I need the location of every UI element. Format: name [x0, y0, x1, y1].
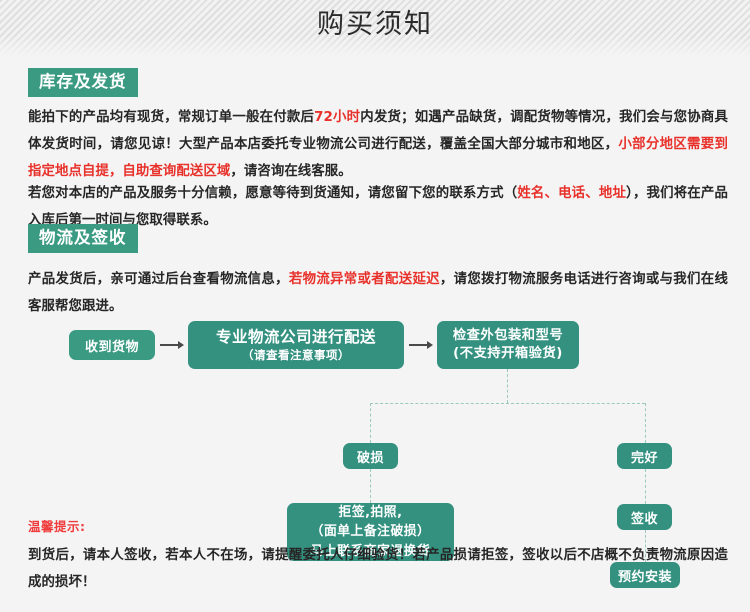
flow-connector-to-intact [645, 403, 646, 443]
arrow-shaft [160, 344, 178, 346]
flow-connector-branch-bus [370, 403, 645, 404]
paragraph1-highlight-72hours: 72小时 [314, 110, 360, 125]
section-inventory-shipping-badge-wrap: 库存及发货 [28, 68, 138, 97]
flow-node-reject-line1: 拒签,拍照, [339, 503, 403, 522]
flow-node-damaged: 破损 [343, 443, 398, 469]
flow-connector-damaged-to-reject [370, 469, 371, 503]
flow-connector-check-down [507, 369, 508, 403]
logistics-paragraph-part1: 产品发货后，亲可通过后台查看物流信息， [28, 272, 289, 287]
arrow-head-icon [427, 341, 433, 349]
flow-node-received-goods: 收到货物 [69, 330, 155, 360]
flow-arrow-received-to-logistics [160, 340, 184, 350]
warm-tips-label: 温馨提示: [28, 516, 86, 535]
paragraph2-part1: 若您对本店的产品及服务十分信赖，愿意等待到货通知，请您留下您的联系方式（ [28, 186, 517, 201]
page-header: 购买须知 [0, 0, 750, 58]
flow-node-sign-receipt-line1: 签收 [631, 508, 658, 527]
section-inventory-shipping-badge: 库存及发货 [28, 68, 138, 97]
flow-connector-intact-to-sign [645, 469, 646, 504]
flow-node-intact-line1: 完好 [631, 447, 658, 466]
paragraph1-part3: ，请咨询在线客服。 [230, 164, 351, 179]
flow-node-damaged-line1: 破损 [357, 447, 384, 466]
flow-node-professional-logistics: 专业物流公司进行配送 （请查看注意事项） [188, 321, 404, 369]
section-logistics-paragraph-1: 产品发货后，亲可通过后台查看物流信息，若物流异常或者配送延迟，请您拨打物流服务电… [28, 266, 728, 320]
flow-arrow-logistics-to-check [409, 340, 433, 350]
section-logistics-signing-badge: 物流及签收 [28, 224, 138, 253]
flow-connector-to-damaged [370, 403, 371, 443]
arrow-head-icon [178, 341, 184, 349]
flow-node-professional-logistics-line2: （请查看注意事项） [242, 348, 350, 362]
logistics-flowchart: 收到货物 专业物流公司进行配送 （请查看注意事项） 检查外包装和型号 (不支持开… [0, 315, 750, 515]
flow-node-professional-logistics-line1: 专业物流公司进行配送 [216, 328, 376, 347]
flow-node-check-package-line1: 检查外包装和型号 [453, 327, 563, 345]
paragraph1-part1: 能拍下的产品均有现货，常规订单一般在付款后 [28, 110, 314, 125]
flow-node-intact: 完好 [617, 443, 672, 469]
warm-tips-body: 到货后，请本人签收，若本人不在场，请提醒委托人仔细验货！若产品损请拒签，签收以后… [28, 542, 728, 596]
flow-node-check-package-line2: (不支持开箱验货) [453, 345, 563, 363]
section-logistics-signing-badge-wrap: 物流及签收 [28, 224, 138, 253]
logistics-paragraph-highlight-delay: 若物流异常或者配送延迟 [289, 272, 440, 287]
section-inventory-paragraph-1: 能拍下的产品均有现货，常规订单一般在付款后72小时内发货；如遇产品缺货，调配货物… [28, 104, 728, 185]
flow-node-reject-line2: （面单上备注破损） [311, 522, 431, 541]
paragraph2-highlight-contact: 姓名、电话、地址 [517, 186, 626, 201]
flow-node-sign-receipt: 签收 [617, 504, 672, 530]
page-title: 购买须知 [0, 0, 750, 50]
flow-node-check-package: 检查外包装和型号 (不支持开箱验货) [437, 321, 579, 369]
flow-node-received-goods-line1: 收到货物 [85, 336, 139, 355]
arrow-shaft [409, 344, 427, 346]
